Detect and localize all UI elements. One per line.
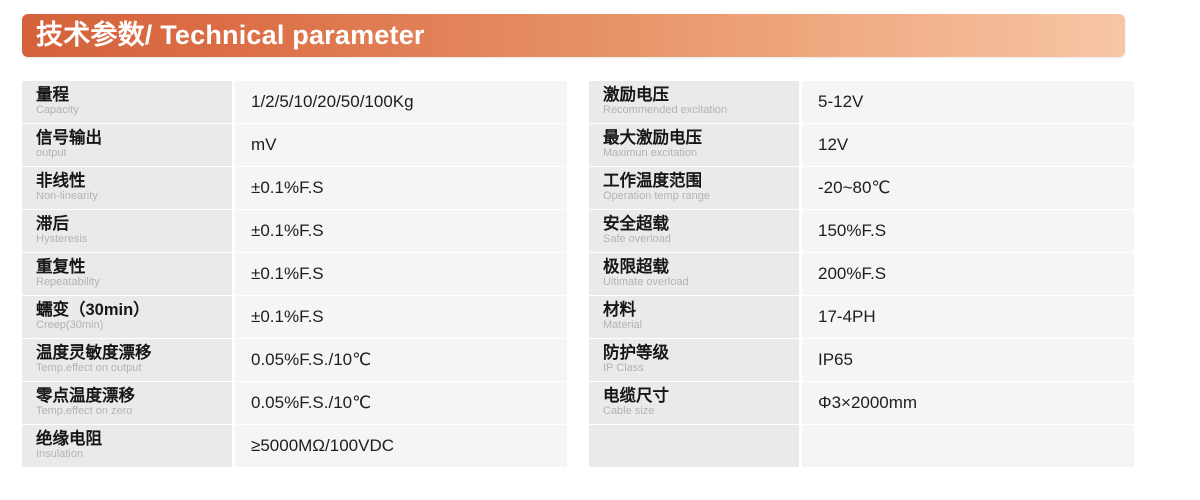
spec-value-cell: Φ3×2000mm: [802, 382, 1134, 424]
spec-label-cell: 滞后Hysteresis: [22, 210, 232, 252]
spec-label-en: IP Class: [603, 363, 799, 375]
spec-label-cell: 量程Capacity: [22, 81, 232, 123]
spec-label-en: Temp.effect on zero: [36, 406, 232, 418]
column-spacer: [567, 339, 589, 381]
spec-label-cell: 防护等级IP Class: [589, 339, 799, 381]
spec-label-cn: 蠕变（30min）: [36, 302, 232, 319]
spec-label-cell: 激励电压Recommended excitation: [589, 81, 799, 123]
spec-value-cell: 17-4PH: [802, 296, 1134, 338]
spec-table-row: 蠕变（30min）Creep(30min)±0.1%F.S材料Material1…: [22, 296, 1134, 338]
page-title: 技术参数/ Technical parameter: [36, 22, 425, 49]
spec-label-cn: 非线性: [36, 173, 232, 190]
spec-value-cell: ±0.1%F.S: [235, 167, 567, 209]
spec-value-cell: -20~80℃: [802, 167, 1134, 209]
spec-label-cell: 非线性Non-linearity: [22, 167, 232, 209]
spec-value-cell: 1/2/5/10/20/50/100Kg: [235, 81, 567, 123]
spec-label-cn: 极限超载: [603, 259, 799, 276]
spec-label-en: Safe overload: [603, 234, 799, 246]
column-spacer: [567, 210, 589, 252]
spec-label-en: Hysteresis: [36, 234, 232, 246]
spec-label-cell: 信号输出output: [22, 124, 232, 166]
spec-table-row: 量程Capacity1/2/5/10/20/50/100Kg激励电压Recomm…: [22, 81, 1134, 123]
spec-label-cell: 最大激励电压Maximun excitation: [589, 124, 799, 166]
section-header-banner: 技术参数/ Technical parameter: [22, 14, 1125, 57]
spec-label-cell: 电缆尺寸Cable size: [589, 382, 799, 424]
spec-table-row: 滞后Hysteresis±0.1%F.S安全超载Safe overload150…: [22, 210, 1134, 252]
spec-value-cell: 150%F.S: [802, 210, 1134, 252]
column-spacer: [567, 296, 589, 338]
spec-value-cell: ±0.1%F.S: [235, 253, 567, 295]
spec-value-cell: IP65: [802, 339, 1134, 381]
spec-label-cell: 安全超载Safe overload: [589, 210, 799, 252]
spec-label-cn: 量程: [36, 87, 232, 104]
spec-value-cell: 200%F.S: [802, 253, 1134, 295]
spec-label-en: Creep(30min): [36, 320, 232, 332]
spec-label-en: Cable size: [603, 406, 799, 418]
technical-parameter-page: 技术参数/ Technical parameter 量程Capacity1/2/…: [0, 0, 1200, 500]
spec-label-cn: 最大激励电压: [603, 130, 799, 147]
spec-label-cell: 绝缘电阻Insulation: [22, 425, 232, 467]
spec-label-en: Operation temp range: [603, 191, 799, 203]
spec-label-en: Repeatability: [36, 277, 232, 289]
spec-label-cell: 蠕变（30min）Creep(30min): [22, 296, 232, 338]
spec-label-cn: 防护等级: [603, 345, 799, 362]
spec-label-cn: 安全超载: [603, 216, 799, 233]
spec-label-cn: 工作温度范围: [603, 173, 799, 190]
spec-value-cell: 5-12V: [802, 81, 1134, 123]
spec-value-cell: mV: [235, 124, 567, 166]
spec-label-en: Uitimate overload: [603, 277, 799, 289]
spec-value-cell: 0.05%F.S./10℃: [235, 382, 567, 424]
specifications-table-body: 量程Capacity1/2/5/10/20/50/100Kg激励电压Recomm…: [22, 81, 1134, 467]
spec-label-cn: 零点温度漂移: [36, 388, 232, 405]
spec-label-en: Insulation: [36, 449, 232, 461]
spec-table-row: 温度灵敏度漂移Temp.effect on output0.05%F.S./10…: [22, 339, 1134, 381]
spec-label-en: Temp.effect on output: [36, 363, 232, 375]
spec-label-en: Recommended excitation: [603, 105, 799, 117]
spec-table-row: 零点温度漂移Temp.effect on zero0.05%F.S./10℃电缆…: [22, 382, 1134, 424]
spec-value-cell: 12V: [802, 124, 1134, 166]
spec-label-cn: 重复性: [36, 259, 232, 276]
spec-label-cell: 工作温度范围Operation temp range: [589, 167, 799, 209]
spec-label-cn: 材料: [603, 302, 799, 319]
column-spacer: [567, 167, 589, 209]
spec-value-cell: ≥5000MΩ/100VDC: [235, 425, 567, 467]
spec-table-row: 非线性Non-linearity±0.1%F.S工作温度范围Operation …: [22, 167, 1134, 209]
page-title-en: Technical parameter: [153, 20, 425, 50]
spec-value-cell: ±0.1%F.S: [235, 210, 567, 252]
spec-table-row: 重复性Repeatability±0.1%F.S极限超载Uitimate ove…: [22, 253, 1134, 295]
spec-label-en: Non-linearity: [36, 191, 232, 203]
spec-label-cell: 材料Material: [589, 296, 799, 338]
spec-label-cn: 电缆尺寸: [603, 388, 799, 405]
spec-value-cell: ±0.1%F.S: [235, 296, 567, 338]
spec-label-cn: 激励电压: [603, 87, 799, 104]
spec-label-cell: 重复性Repeatability: [22, 253, 232, 295]
spec-label-cell: 零点温度漂移Temp.effect on zero: [22, 382, 232, 424]
spec-label-en: Material: [603, 320, 799, 332]
spec-value-cell: 0.05%F.S./10℃: [235, 339, 567, 381]
spec-label-cn: 信号输出: [36, 130, 232, 147]
column-spacer: [567, 81, 589, 123]
spec-label-cn: 绝缘电阻: [36, 431, 232, 448]
spec-label-cn: 温度灵敏度漂移: [36, 345, 232, 362]
specifications-table: 量程Capacity1/2/5/10/20/50/100Kg激励电压Recomm…: [22, 80, 1134, 468]
column-spacer: [567, 382, 589, 424]
spec-label-en: Maximun excitation: [603, 148, 799, 160]
spec-value-cell-empty: [802, 425, 1134, 467]
spec-label-en: output: [36, 148, 232, 160]
spec-label-cn: 滞后: [36, 216, 232, 233]
spec-table-row: 绝缘电阻Insulation≥5000MΩ/100VDC: [22, 425, 1134, 467]
column-spacer: [567, 124, 589, 166]
spec-table-row: 信号输出outputmV最大激励电压Maximun excitation12V: [22, 124, 1134, 166]
spec-label-cell-empty: [589, 425, 799, 467]
spec-label-cell: 温度灵敏度漂移Temp.effect on output: [22, 339, 232, 381]
page-title-cn: 技术参数/: [36, 20, 153, 50]
spec-label-en: Capacity: [36, 105, 232, 117]
spec-label-cell: 极限超载Uitimate overload: [589, 253, 799, 295]
column-spacer: [567, 253, 589, 295]
column-spacer: [567, 425, 589, 467]
